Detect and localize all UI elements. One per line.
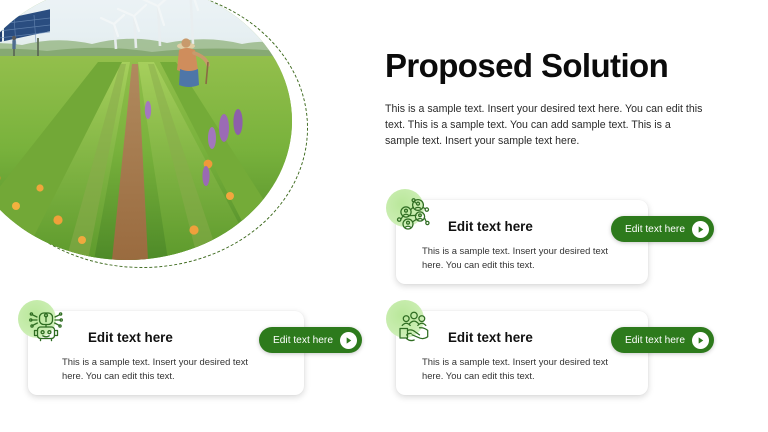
- edit-text-button-label: Edit text here: [625, 224, 685, 235]
- card-title: Edit text here: [448, 219, 533, 234]
- card-title: Edit text here: [88, 330, 173, 345]
- header-paragraph: This is a sample text. Insert your desir…: [385, 101, 703, 150]
- card-body: This is a sample text. Insert your desir…: [422, 355, 627, 383]
- card-title: Edit text here: [448, 330, 533, 345]
- card-body: This is a sample text. Insert your desir…: [422, 244, 627, 272]
- edit-text-button[interactable]: Edit text here: [259, 327, 362, 353]
- play-icon: [692, 221, 709, 238]
- card-body: This is a sample text. Insert your desir…: [62, 355, 267, 383]
- handshake-people-icon: [393, 306, 435, 348]
- edit-text-button-label: Edit text here: [273, 335, 333, 346]
- play-icon: [692, 332, 709, 349]
- play-icon: [340, 332, 357, 349]
- page-title: Proposed Solution: [385, 49, 715, 84]
- slide-canvas: Proposed Solution This is a sample text.…: [0, 0, 768, 432]
- people-network-icon: [393, 195, 435, 237]
- card-network[interactable]: Edit text here This is a sample text. In…: [396, 200, 648, 284]
- hero-image-group: [0, 0, 310, 274]
- edit-text-button[interactable]: Edit text here: [611, 216, 714, 242]
- edit-text-button-label: Edit text here: [625, 335, 685, 346]
- edit-text-button[interactable]: Edit text here: [611, 327, 714, 353]
- robot-ai-icon: [25, 306, 67, 348]
- card-handshake[interactable]: Edit text here This is a sample text. In…: [396, 311, 648, 395]
- card-robot[interactable]: Edit text here This is a sample text. In…: [28, 311, 304, 395]
- header-block: Proposed Solution This is a sample text.…: [385, 49, 715, 150]
